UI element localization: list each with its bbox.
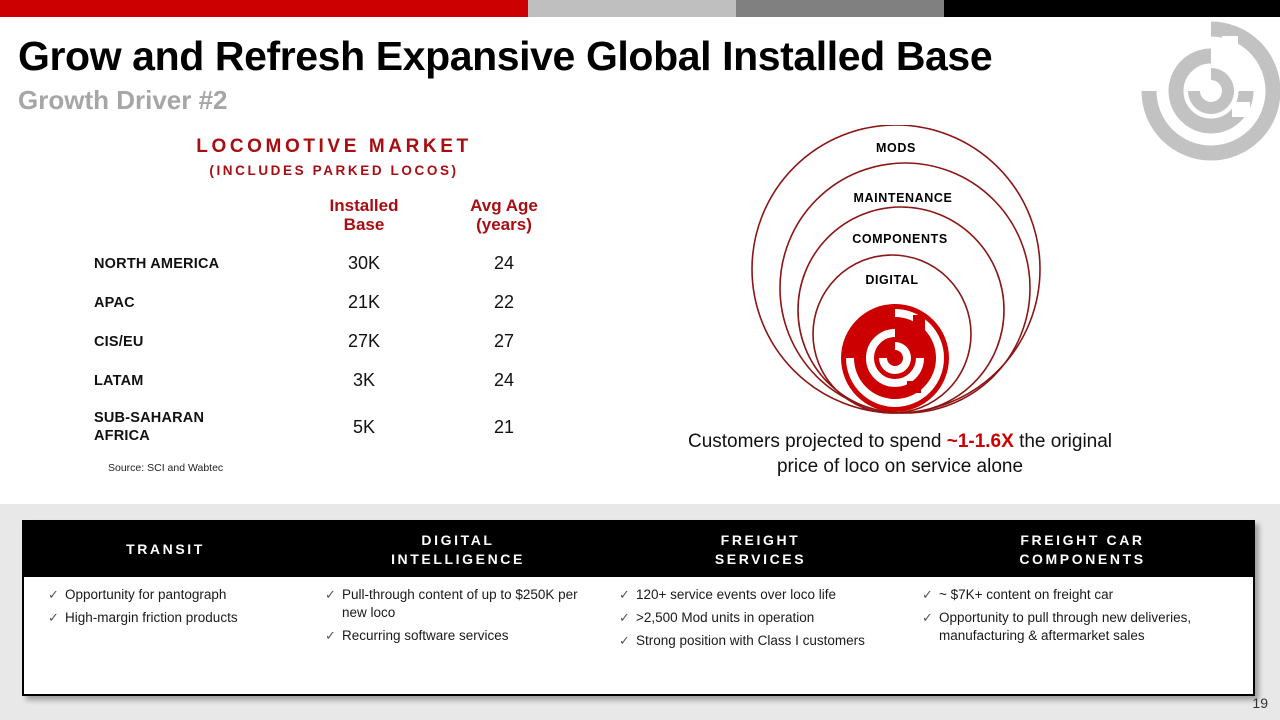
column-header-line: Avg Age <box>434 196 574 215</box>
list-item: ✓ Opportunity for pantograph <box>48 586 299 604</box>
check-icon: ✓ <box>48 586 65 604</box>
check-icon: ✓ <box>619 609 636 627</box>
column-header-line: Installed <box>294 196 434 215</box>
table-row: NORTH AMERICA 30K 24 <box>94 244 574 283</box>
heading-line: FREIGHT <box>609 531 912 549</box>
cell-region: CIS/EU <box>94 322 294 361</box>
cell-installed-base: 3K <box>294 361 434 400</box>
list-item: ✓ Pull-through content of up to $250K pe… <box>325 586 585 622</box>
source-note: Source: SCI and Wabtec <box>94 462 574 474</box>
bullet-text: >2,500 Mod units in operation <box>636 609 894 627</box>
bullet-text: Strong position with Class I customers <box>636 632 894 650</box>
panel-heading-transit: TRANSIT <box>24 540 307 558</box>
table-header-row: Installed Base Avg Age (years) <box>94 196 574 244</box>
bullet-text: 120+ service events over loco life <box>636 586 894 604</box>
locomotive-market-section: LOCOMOTIVE MARKET (INCLUDES PARKED LOCOS… <box>94 136 574 474</box>
panel-column-digital-intelligence: ✓ Pull-through content of up to $250K pe… <box>307 577 609 694</box>
panel-heading-digital-intelligence: DIGITAL INTELLIGENCE <box>307 531 609 568</box>
panel-column-transit: ✓ Opportunity for pantograph ✓ High-marg… <box>24 577 307 694</box>
check-icon: ✓ <box>325 627 342 645</box>
bullet-text: Opportunity to pull through new deliveri… <box>939 609 1233 645</box>
column-header-line: (years) <box>434 215 574 234</box>
cell-region: NORTH AMERICA <box>94 244 294 283</box>
table-row: LATAM 3K 24 <box>94 361 574 400</box>
table-row: CIS/EU 27K 27 <box>94 322 574 361</box>
list-item: ✓ High-margin friction products <box>48 609 299 627</box>
capability-panel: TRANSIT DIGITAL INTELLIGENCE FREIGHT SER… <box>22 520 1255 696</box>
top-color-bar <box>0 0 1280 17</box>
cell-avg-age: 21 <box>434 400 574 454</box>
center-logo-icon <box>841 304 949 412</box>
bullet-text: Opportunity for pantograph <box>65 586 299 604</box>
caption-text-before: Customers projected to spend <box>688 431 947 452</box>
ring-label-mods: MODS <box>876 141 916 155</box>
cell-installed-base: 30K <box>294 244 434 283</box>
heading-line: DIGITAL <box>307 531 609 549</box>
table-row: SUB-SAHARAN AFRICA 5K 21 <box>94 400 574 454</box>
bullet-text: High-margin friction products <box>65 609 299 627</box>
cell-installed-base: 21K <box>294 283 434 322</box>
check-icon: ✓ <box>922 586 939 604</box>
list-item: ✓ ~ $7K+ content on freight car <box>922 586 1233 604</box>
ring-label-maintenance: MAINTENANCE <box>854 191 953 205</box>
diagram-caption: Customers projected to spend ~1-1.6X the… <box>620 429 1180 479</box>
heading-line: INTELLIGENCE <box>307 550 609 568</box>
wabtec-spiral-logo-icon <box>1136 16 1280 128</box>
check-icon: ✓ <box>619 586 636 604</box>
caption-highlight: ~1-1.6X <box>947 431 1014 452</box>
page-subtitle: Growth Driver #2 <box>18 85 228 116</box>
cell-avg-age: 27 <box>434 322 574 361</box>
service-layers-diagram: MODS MAINTENANCE COMPONENTS DIGITAL <box>735 125 1065 425</box>
caption-text-after: the original <box>1014 431 1112 452</box>
list-item: ✓ Recurring software services <box>325 627 585 645</box>
page-title: Grow and Refresh Expansive Global Instal… <box>18 33 992 80</box>
cell-region: APAC <box>94 283 294 322</box>
column-header-region <box>94 196 294 244</box>
top-bar-segment-red <box>0 0 528 17</box>
top-bar-segment-black <box>944 0 1280 17</box>
panel-column-freight-car-components: ✓ ~ $7K+ content on freight car ✓ Opport… <box>912 577 1253 694</box>
panel-heading-freight-car-components: FREIGHT CAR COMPONENTS <box>912 531 1253 568</box>
column-header-avg-age: Avg Age (years) <box>434 196 574 244</box>
heading-line: FREIGHT CAR <box>912 531 1253 549</box>
panel-heading-freight-services: FREIGHT SERVICES <box>609 531 912 568</box>
check-icon: ✓ <box>48 609 65 627</box>
heading-line: TRANSIT <box>24 540 307 558</box>
market-title: LOCOMOTIVE MARKET <box>94 136 574 158</box>
cell-installed-base: 5K <box>294 400 434 454</box>
heading-line: SERVICES <box>609 550 912 568</box>
bullet-text: Recurring software services <box>342 627 585 645</box>
panel-column-freight-services: ✓ 120+ service events over loco life ✓ >… <box>609 577 912 694</box>
top-bar-segment-mid-gray <box>736 0 944 17</box>
cell-installed-base: 27K <box>294 322 434 361</box>
heading-line: COMPONENTS <box>912 550 1253 568</box>
column-header-line: Base <box>294 215 434 234</box>
check-icon: ✓ <box>325 586 342 622</box>
cell-avg-age: 22 <box>434 283 574 322</box>
cell-avg-age: 24 <box>434 361 574 400</box>
check-icon: ✓ <box>619 632 636 650</box>
page-number: 19 <box>1252 695 1268 711</box>
top-bar-segment-light-gray <box>528 0 736 17</box>
column-header-installed-base: Installed Base <box>294 196 434 244</box>
table-row: APAC 21K 22 <box>94 283 574 322</box>
list-item: ✓ 120+ service events over loco life <box>619 586 894 604</box>
panel-header-row: TRANSIT DIGITAL INTELLIGENCE FREIGHT SER… <box>24 522 1253 577</box>
ring-label-digital: DIGITAL <box>865 273 918 287</box>
check-icon: ✓ <box>922 609 939 645</box>
list-item: ✓ >2,500 Mod units in operation <box>619 609 894 627</box>
cell-region: LATAM <box>94 361 294 400</box>
panel-body-row: ✓ Opportunity for pantograph ✓ High-marg… <box>24 577 1253 694</box>
market-table: Installed Base Avg Age (years) NORTH AME… <box>94 196 574 454</box>
list-item: ✓ Strong position with Class I customers <box>619 632 894 650</box>
market-subtitle: (INCLUDES PARKED LOCOS) <box>94 163 574 178</box>
bullet-text: ~ $7K+ content on freight car <box>939 586 1233 604</box>
list-item: ✓ Opportunity to pull through new delive… <box>922 609 1233 645</box>
bullet-text: Pull-through content of up to $250K per … <box>342 586 585 622</box>
cell-avg-age: 24 <box>434 244 574 283</box>
cell-region: SUB-SAHARAN AFRICA <box>94 400 294 454</box>
ring-label-components: COMPONENTS <box>852 232 948 246</box>
caption-line-2: price of loco on service alone <box>777 456 1023 477</box>
